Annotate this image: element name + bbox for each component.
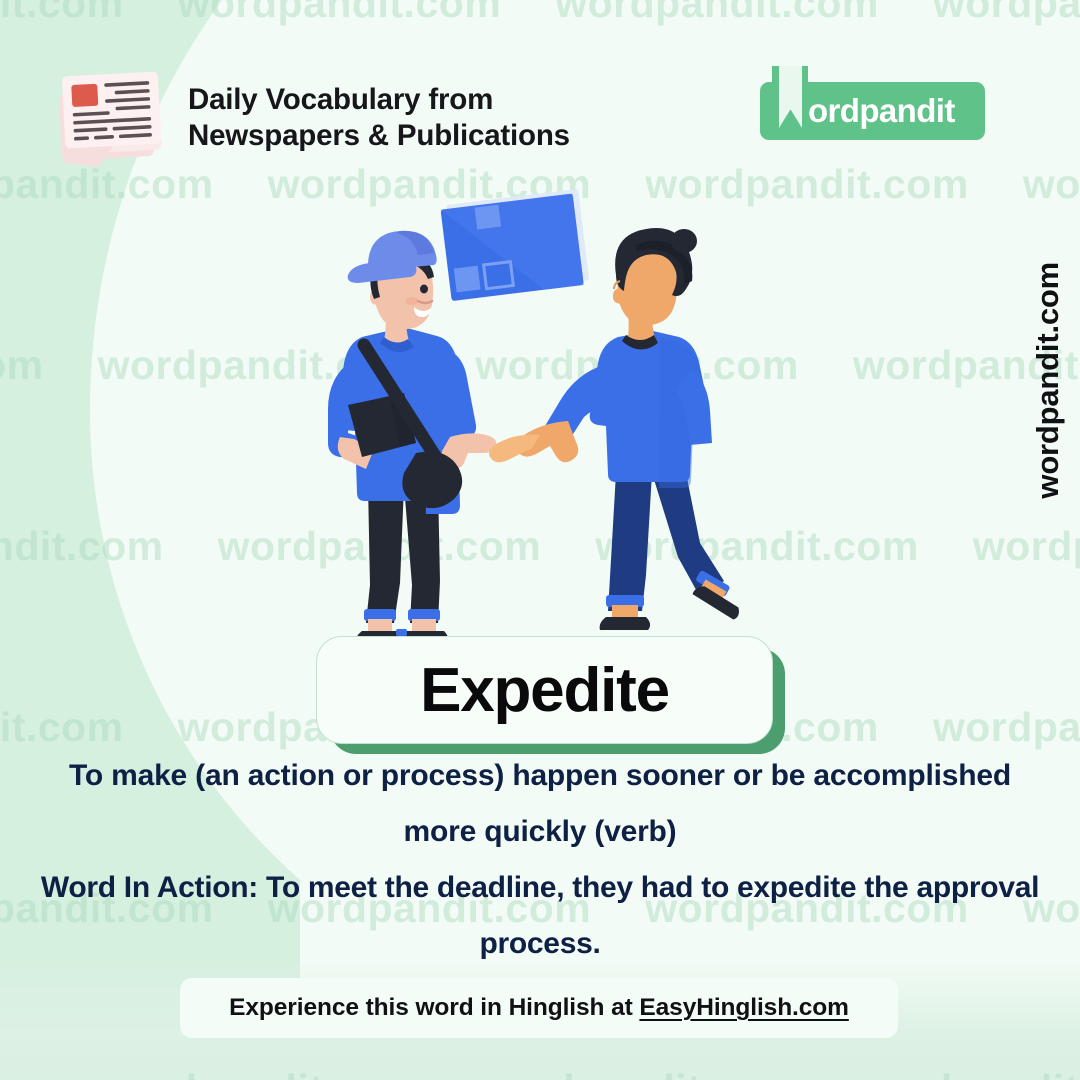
newspaper-icon xyxy=(52,62,172,174)
package-box xyxy=(440,189,590,301)
easyhinglish-link[interactable]: EasyHinglish.com xyxy=(639,994,848,1021)
vocabulary-word: Expedite xyxy=(420,655,669,726)
word-in-action: Word In Action: To meet the deadline, th… xyxy=(20,860,1060,973)
vertical-url-watermark: wordpandit.com xyxy=(1030,262,1066,499)
word-definition: To make (an action or process) happen so… xyxy=(60,748,1020,861)
header-title: Daily Vocabulary from Newspapers & Publi… xyxy=(188,82,570,154)
footer-prefix: Experience this word in Hinglish at xyxy=(229,994,639,1021)
background-left-strip xyxy=(0,0,38,62)
two-people-handing-package-illustration xyxy=(300,185,800,655)
footer-banner[interactable]: Experience this word in Hinglish at Easy… xyxy=(180,978,898,1038)
footer-text: Experience this word in Hinglish at Easy… xyxy=(229,994,849,1022)
header: Daily Vocabulary from Newspapers & Publi… xyxy=(52,62,570,174)
word-card: Expedite xyxy=(316,636,771,742)
brand-label: ordpandit xyxy=(808,92,955,130)
vocabulary-card: wordpandit.comwordpandit.comwordpandit.c… xyxy=(0,0,1080,1080)
word-card-surface: Expedite xyxy=(316,636,773,744)
brand-logo[interactable]: ordpandit xyxy=(760,82,985,140)
